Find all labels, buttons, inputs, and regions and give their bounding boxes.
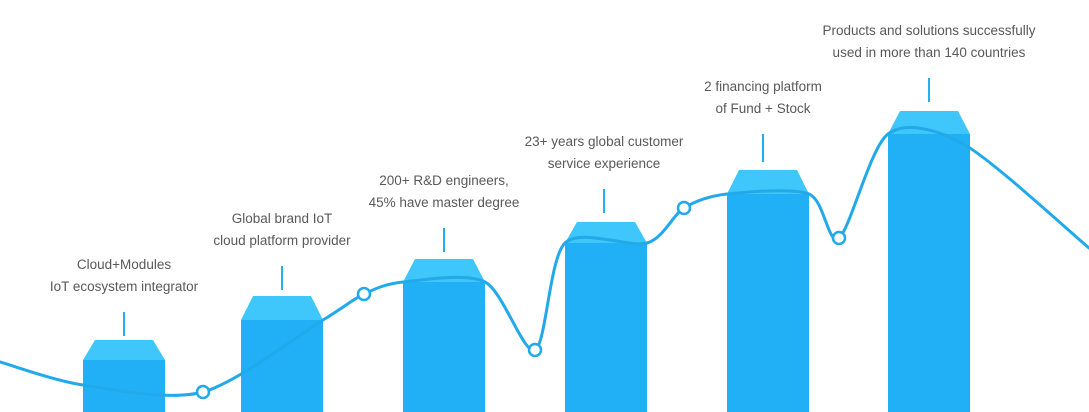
trend-marker-5 — [833, 232, 845, 244]
bar-1 — [83, 340, 165, 412]
bar-6 — [888, 111, 970, 412]
bar-2 — [241, 296, 323, 412]
bar-top-face — [241, 296, 323, 320]
infographic-canvas: Cloud+ModulesIoT ecosystem integratorGlo… — [0, 0, 1089, 412]
bars-group — [83, 111, 970, 412]
trend-marker-2 — [358, 288, 370, 300]
trend-marker-4 — [678, 202, 690, 214]
trend-marker-1 — [197, 386, 209, 398]
bar-body — [727, 194, 809, 412]
bar-body — [403, 282, 485, 412]
milestone-bar-chart — [0, 0, 1089, 412]
bar-top-face — [83, 340, 165, 360]
bar-5 — [727, 170, 809, 412]
trend-marker-3 — [529, 344, 541, 356]
bar-body — [888, 134, 970, 412]
bar-body — [565, 243, 647, 412]
bar-4 — [565, 222, 647, 412]
